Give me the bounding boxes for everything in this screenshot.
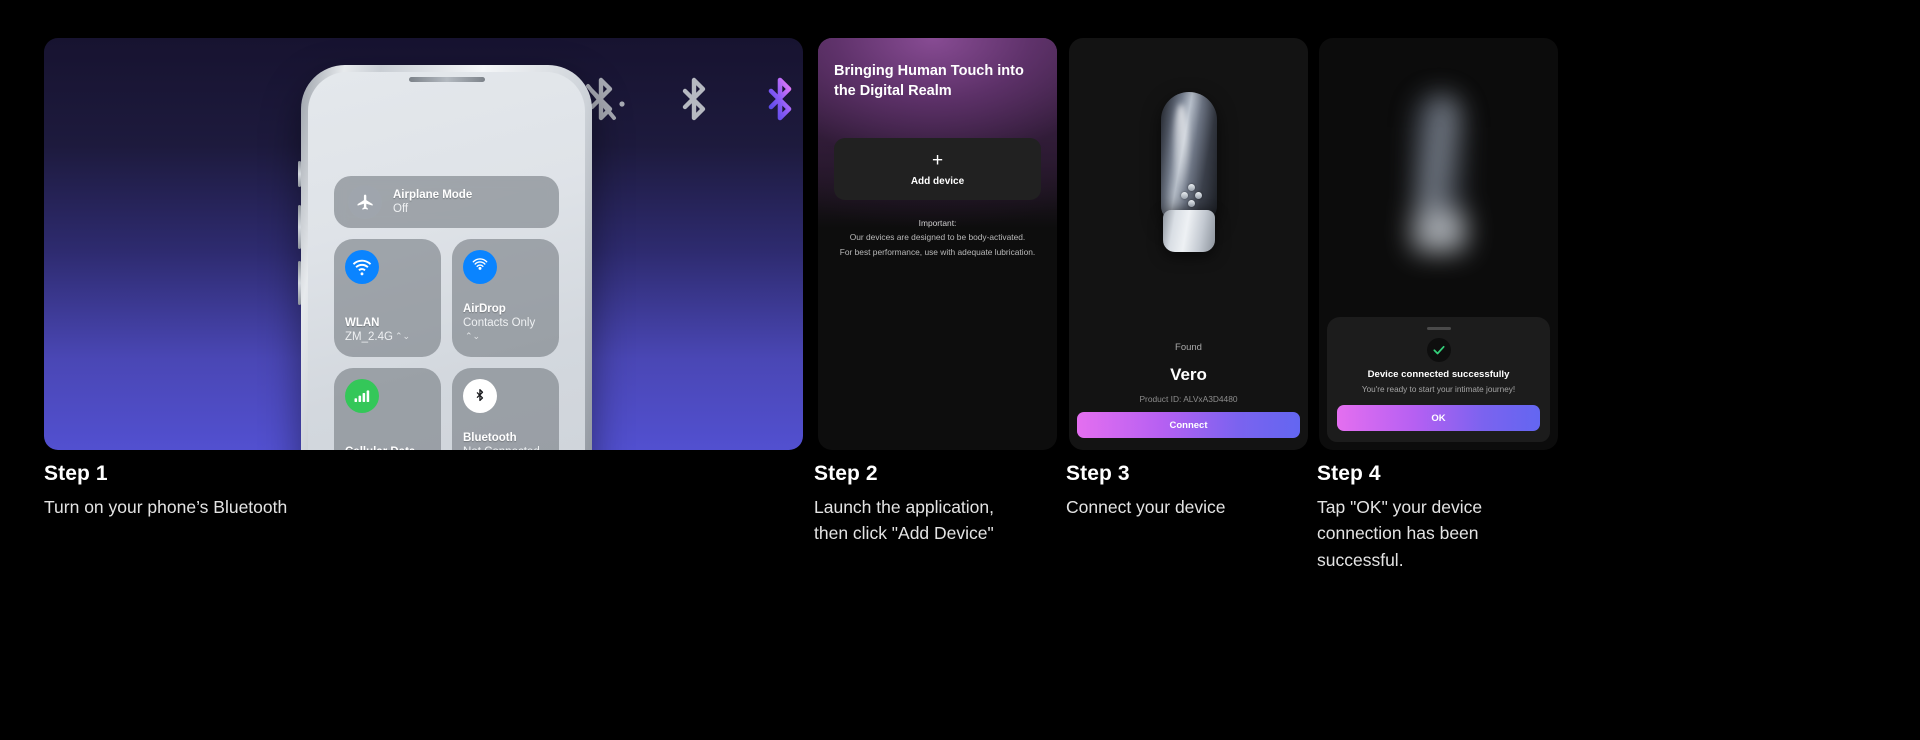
bluetooth-value: Not Connected⌃⌄: [463, 445, 548, 450]
step-1-caption: Step 1 Turn on your phone’s Bluetooth: [44, 462, 564, 520]
cellular-data-tile[interactable]: Cellular Data On: [334, 368, 441, 450]
blurred-device-image: [1409, 94, 1469, 264]
tutorial-stage: Airplane Mode Off: [0, 0, 1920, 740]
airplane-mode-text: Airplane Mode Off: [393, 188, 472, 216]
control-center: Airplane Mode Off: [334, 176, 559, 450]
connect-button[interactable]: Connect: [1077, 412, 1300, 438]
success-check-icon: [1427, 338, 1451, 362]
phone-speaker-grille: [409, 77, 485, 82]
phone-mute-switch: [298, 161, 301, 187]
card-row: Airplane Mode Off: [0, 38, 1920, 450]
step-1-label: Step 1: [44, 462, 564, 486]
step-3-label: Step 3: [1066, 462, 1296, 486]
note-heading: Important:: [826, 216, 1049, 230]
chevron-updown-icon: ⌃⌄: [395, 331, 410, 342]
bluetooth-text: Bluetooth Not Connected⌃⌄: [463, 431, 548, 450]
step-4-success-card: Device connected successfully You're rea…: [1319, 38, 1558, 450]
bluetooth-state-icons: [584, 74, 800, 134]
device-base: [1163, 210, 1215, 252]
vero-device-render: [1161, 92, 1217, 252]
bluetooth-idle-icon: [678, 74, 714, 134]
control-center-row-2: Cellular Data On: [334, 368, 559, 450]
phone-volume-down-button: [298, 261, 301, 305]
step-2-caption: Step 2 Launch the application, then clic…: [814, 462, 1029, 547]
wlan-label: WLAN: [345, 316, 430, 330]
airplane-mode-label: Airplane Mode: [393, 188, 472, 202]
airdrop-text: AirDrop Contacts Only⌃⌄: [463, 302, 548, 346]
airplane-mode-value: Off: [393, 202, 472, 216]
airdrop-icon: [463, 250, 497, 284]
airplane-mode-tile[interactable]: Airplane Mode Off: [334, 176, 559, 228]
airdrop-value: Contacts Only⌃⌄: [463, 316, 548, 344]
phone-volume-up-button: [298, 205, 301, 249]
add-device-label: Add device: [911, 176, 964, 187]
airdrop-label: AirDrop: [463, 302, 548, 316]
app-tagline: Bringing Human Touch into the Digital Re…: [834, 62, 1043, 101]
bluetooth-label: Bluetooth: [463, 431, 548, 445]
step-2-text: Launch the application, then click "Add …: [814, 494, 1029, 547]
found-device-info: Found Vero Product ID: ALVxA3D4480: [1069, 342, 1308, 404]
bluetooth-icon: [463, 379, 497, 413]
device-name: Vero: [1069, 365, 1308, 385]
step-1-illustration-card: Airplane Mode Off: [44, 38, 803, 450]
modal-grabber[interactable]: [1427, 327, 1451, 330]
note-line-1: Our devices are designed to be body-acti…: [826, 230, 1049, 244]
plus-icon: +: [932, 151, 943, 170]
success-title: Device connected successfully: [1337, 369, 1540, 380]
success-modal: Device connected successfully You're rea…: [1327, 317, 1550, 442]
add-device-button[interactable]: + Add device: [834, 138, 1041, 200]
wlan-value: ZM_2.4G⌃⌄: [345, 330, 430, 344]
product-id: Product ID: ALVxA3D4480: [1069, 394, 1308, 404]
wifi-icon: [345, 250, 379, 284]
iphone-mockup: Airplane Mode Off: [301, 65, 592, 450]
airplane-icon: [348, 185, 382, 219]
step-3-text: Connect your device: [1066, 494, 1296, 520]
cellular-bars-icon: [345, 379, 379, 413]
device-control-buttons: [1181, 184, 1203, 208]
wlan-text: WLAN ZM_2.4G⌃⌄: [345, 316, 430, 346]
chevron-updown-icon: ⌃⌄: [465, 331, 480, 342]
step-3-caption: Step 3 Connect your device: [1066, 462, 1296, 520]
step-4-text: Tap "OK" your device connection has been…: [1317, 494, 1547, 573]
cellular-label: Cellular Data: [345, 445, 430, 450]
wlan-tile[interactable]: WLAN ZM_2.4G⌃⌄: [334, 239, 441, 357]
ok-button[interactable]: OK: [1337, 405, 1540, 431]
device-image: [1069, 82, 1308, 262]
step-1-text: Turn on your phone’s Bluetooth: [44, 494, 564, 520]
step-3-found-device-card: Found Vero Product ID: ALVxA3D4480 Conne…: [1069, 38, 1308, 450]
bluetooth-active-icon: [764, 74, 800, 134]
bluetooth-tile[interactable]: Bluetooth Not Connected⌃⌄: [452, 368, 559, 450]
step-4-label: Step 4: [1317, 462, 1547, 486]
step-2-app-card: Bringing Human Touch into the Digital Re…: [818, 38, 1057, 450]
step-4-caption: Step 4 Tap "OK" your device connection h…: [1317, 462, 1547, 573]
phone-screen: Airplane Mode Off: [308, 72, 585, 450]
step-2-label: Step 2: [814, 462, 1029, 486]
control-center-row-1: WLAN ZM_2.4G⌃⌄: [334, 239, 559, 357]
important-note: Important: Our devices are designed to b…: [826, 216, 1049, 259]
note-line-2: For best performance, use with adequate …: [826, 245, 1049, 259]
success-subtitle: You're ready to start your intimate jour…: [1337, 385, 1540, 394]
airdrop-tile[interactable]: AirDrop Contacts Only⌃⌄: [452, 239, 559, 357]
device-highlight: [1174, 104, 1188, 188]
found-label: Found: [1069, 342, 1308, 353]
cellular-text: Cellular Data On: [345, 445, 430, 450]
